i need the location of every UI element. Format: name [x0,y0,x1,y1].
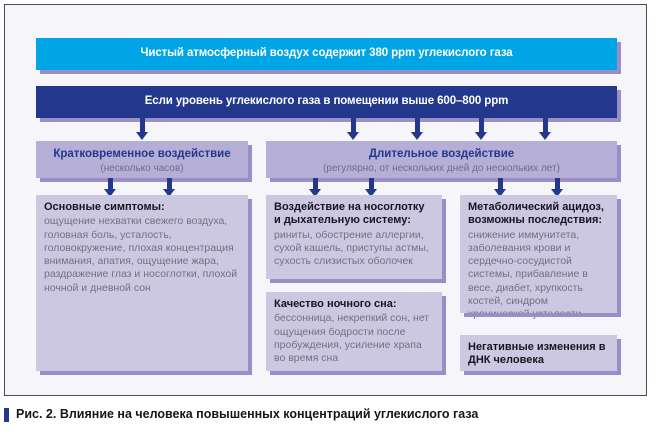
banner-clean-air: Чистый атмосферный воздух содержит 380 p… [36,38,617,70]
content-box-metabolic-acidosis-heading: Метаболический ацидоз, возможны последст… [468,201,609,228]
arrow-stem [498,178,503,189]
figure-frame: Чистый атмосферный воздух содержит 380 p… [4,4,647,396]
content-box-dna-changes: Негативные изменения в ДНК человека [460,335,617,371]
exposure-header-short-term-title: Кратковременное воздействие [36,147,248,161]
box-shadow [442,199,446,283]
arrow-stem [543,118,548,132]
arrow-stem [140,118,145,132]
banner-shadow [617,42,621,74]
arrow-head [136,132,148,140]
exposure-header-long-term: Длительное воздействие (регулярно, от не… [266,141,617,178]
arrow-stem [415,118,420,132]
content-box-nasopharynx: Воздействие на носоглотку и дыхательную … [266,195,442,279]
content-box-nasopharynx-heading: Воздействие на носоглотку и дыхательную … [274,201,434,228]
content-box-nasopharynx-body: риниты, обострение аллергии, сухой кашел… [274,229,434,269]
box-shadow [248,199,252,375]
content-box-dna-changes-heading: Негативные изменения в ДНК человека [468,341,609,368]
banner-clean-air-label: Чистый атмосферный воздух содержит 380 p… [140,47,512,61]
content-box-sleep-quality-body: бессонница, некрепкий сон, нет ощущения … [274,312,434,365]
arrow-stem [108,178,113,189]
arrow-head [411,132,423,140]
box-shadow [617,199,621,317]
header-shadow [617,145,621,182]
content-box-sleep-quality: Качество ночного сна: бессонница, некреп… [266,292,442,371]
arrow-stem [369,178,374,189]
figure-caption-text: Рис. 2. Влияние на человека повышенных к… [16,408,478,422]
arrow-stem [479,118,484,132]
arrow-stem [351,118,356,132]
content-box-main-symptoms-body: ощущение нехватки свежего воздуха, голов… [44,215,240,294]
arrow-stem [167,178,172,189]
banner-threshold-label: Если уровень углекислого газа в помещени… [145,95,509,109]
box-shadow [442,296,446,375]
arrow-head [539,132,551,140]
arrow-stem [555,178,560,189]
arrow-down-icon [475,118,487,140]
content-box-main-symptoms: Основные симптомы: ощущение нехватки све… [36,195,248,371]
arrow-down-icon [411,118,423,140]
caption-marker-icon [4,408,9,422]
banner-shadow [617,90,621,122]
content-box-main-symptoms-heading: Основные симптомы: [44,201,240,214]
header-shadow [248,145,252,182]
arrow-down-icon [136,118,148,140]
content-box-metabolic-acidosis: Метаболический ацидоз, возможны последст… [460,195,617,313]
banner-threshold: Если уровень углекислого газа в помещени… [36,86,617,118]
exposure-header-long-term-title: Длительное воздействие [266,147,617,161]
arrow-head [347,132,359,140]
arrow-down-icon [347,118,359,140]
exposure-header-short-term: Кратковременное воздействие (несколько ч… [36,141,248,178]
exposure-header-short-term-subtitle: (несколько часов) [36,162,248,175]
box-shadow [617,339,621,375]
content-box-sleep-quality-heading: Качество ночного сна: [274,298,434,311]
content-box-metabolic-acidosis-body: снижение иммунитета, заболевания крови и… [468,229,609,322]
exposure-header-long-term-subtitle: (регулярно, от нескольких дней до нескол… [266,162,617,175]
figure-caption: Рис. 2. Влияние на человека повышенных к… [4,408,647,422]
arrow-down-icon [539,118,551,140]
arrow-head [475,132,487,140]
arrow-stem [313,178,318,189]
